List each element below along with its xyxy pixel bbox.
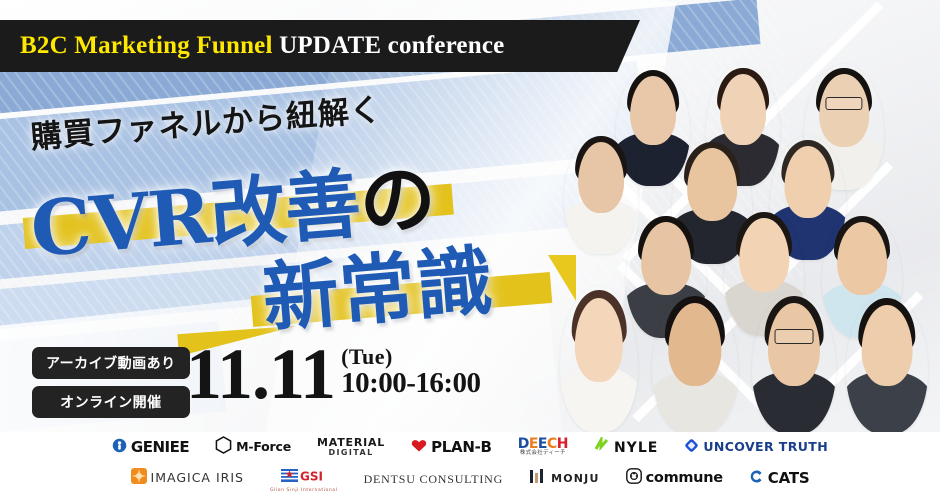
zigzag-icon	[594, 437, 610, 458]
portrait-face	[630, 76, 676, 146]
sponsor-logo-sublabel: 株式会社ディーチ	[520, 451, 566, 457]
sponsor-logo-label: NYLE	[614, 441, 658, 455]
badge-group: アーカイブ動画あり オンライン開催	[32, 347, 190, 418]
headline-line-2: 新常識	[258, 219, 497, 347]
portrait-face	[739, 218, 789, 292]
diamond-icon	[684, 438, 699, 458]
flag-icon: GSI	[281, 468, 327, 489]
sponsor-logo-nyle[interactable]: NYLE	[594, 437, 658, 459]
sponsor-logo-label: commune	[646, 471, 723, 486]
event-date-block: 11.11 (Tue) 10:00-16:00	[186, 340, 481, 408]
event-day-of-week: (Tue)	[341, 346, 480, 368]
c-ring-icon	[749, 469, 764, 489]
sponsor-logo-label: CATS	[768, 471, 810, 486]
sponsor-logo-gsi[interactable]: GSI Glion Sinji International	[270, 468, 338, 490]
portrait-face	[720, 74, 766, 145]
sponsor-logo-geniee[interactable]: GENIEE	[112, 437, 189, 459]
circle-dot-icon	[112, 438, 127, 458]
sponsor-logo-label: MATERIAL	[317, 437, 385, 448]
sponsor-logo-sublabel: DIGITAL	[329, 449, 374, 457]
sponsor-logo-deech[interactable]: DEECH 株式会社ディーチ	[518, 437, 568, 459]
svg-text:GSI: GSI	[300, 469, 323, 483]
sponsor-logo-material-digital[interactable]: MATERIAL DIGITAL	[317, 437, 385, 459]
speaker-photo-collage	[548, 60, 940, 432]
sponsor-logo-dentsu-consulting[interactable]: DENTSU CONSULTING	[364, 468, 504, 490]
sponsor-logo-uncover-truth[interactable]: UNCOVER TRUTH	[684, 437, 828, 459]
sponsor-logo-row-2: IMAGICA IRIS GSI Glion Sinji Internation…	[0, 465, 940, 492]
event-banner: B2C Marketing Funnel UPDATE conference 購…	[0, 0, 940, 494]
sponsor-logo-sublabel: Glion Sinji International	[270, 489, 338, 494]
sponsor-logo-cats[interactable]: CATS	[749, 468, 810, 490]
headline-block: CVR改善の 新常識	[0, 0, 580, 340]
sponsor-logo-label: M-Force	[236, 441, 291, 454]
portrait-face	[837, 222, 887, 295]
bars-icon	[529, 468, 547, 489]
sponsor-logo-monju[interactable]: MONJU	[529, 468, 600, 490]
event-date: 11.11	[186, 340, 335, 408]
glasses-icon	[775, 329, 814, 344]
hexagon-icon	[215, 436, 232, 459]
sponsor-logo-label: UNCOVER TRUTH	[703, 441, 828, 454]
sponsor-logo-plan-b[interactable]: PLAN-B	[411, 437, 492, 459]
sponsor-logo-label: DENTSU CONSULTING	[364, 473, 504, 485]
sponsor-logo-imagica-iris[interactable]: IMAGICA IRIS	[131, 468, 244, 490]
sponsor-logo-m-force[interactable]: M-Force	[215, 437, 291, 459]
rounded-square-dots-icon	[626, 468, 642, 489]
sponsor-logo-label: GENIEE	[131, 440, 189, 455]
badge-archive-video[interactable]: アーカイブ動画あり	[32, 347, 190, 379]
sponsor-logo-label: IMAGICA IRIS	[151, 472, 244, 485]
sponsor-logo-row-1: GENIEE M-Force MATERIAL DIGITAL PLAN-B D…	[0, 434, 940, 461]
portrait-face	[687, 148, 737, 221]
speaker-portrait	[846, 294, 928, 432]
event-date-detail: (Tue) 10:00-16:00	[341, 346, 480, 398]
heart-icon	[411, 437, 427, 458]
sponsor-logo-label: MONJU	[551, 473, 600, 484]
badge-online-event[interactable]: オンライン開催	[32, 386, 190, 418]
event-time-range: 10:00-16:00	[341, 368, 480, 398]
portrait-face	[641, 222, 691, 295]
portrait-face	[862, 305, 913, 386]
sponsor-logo-commune[interactable]: commune	[626, 468, 723, 490]
sponsor-logo-label: PLAN-B	[431, 440, 492, 455]
portrait-face	[819, 74, 869, 147]
glasses-icon	[825, 97, 862, 110]
sponsor-logo-strip: GENIEE M-Force MATERIAL DIGITAL PLAN-B D…	[0, 432, 940, 494]
sunburst-square-icon	[131, 468, 147, 489]
portrait-face	[578, 142, 624, 213]
sponsor-logo-label: DEECH	[518, 437, 568, 451]
